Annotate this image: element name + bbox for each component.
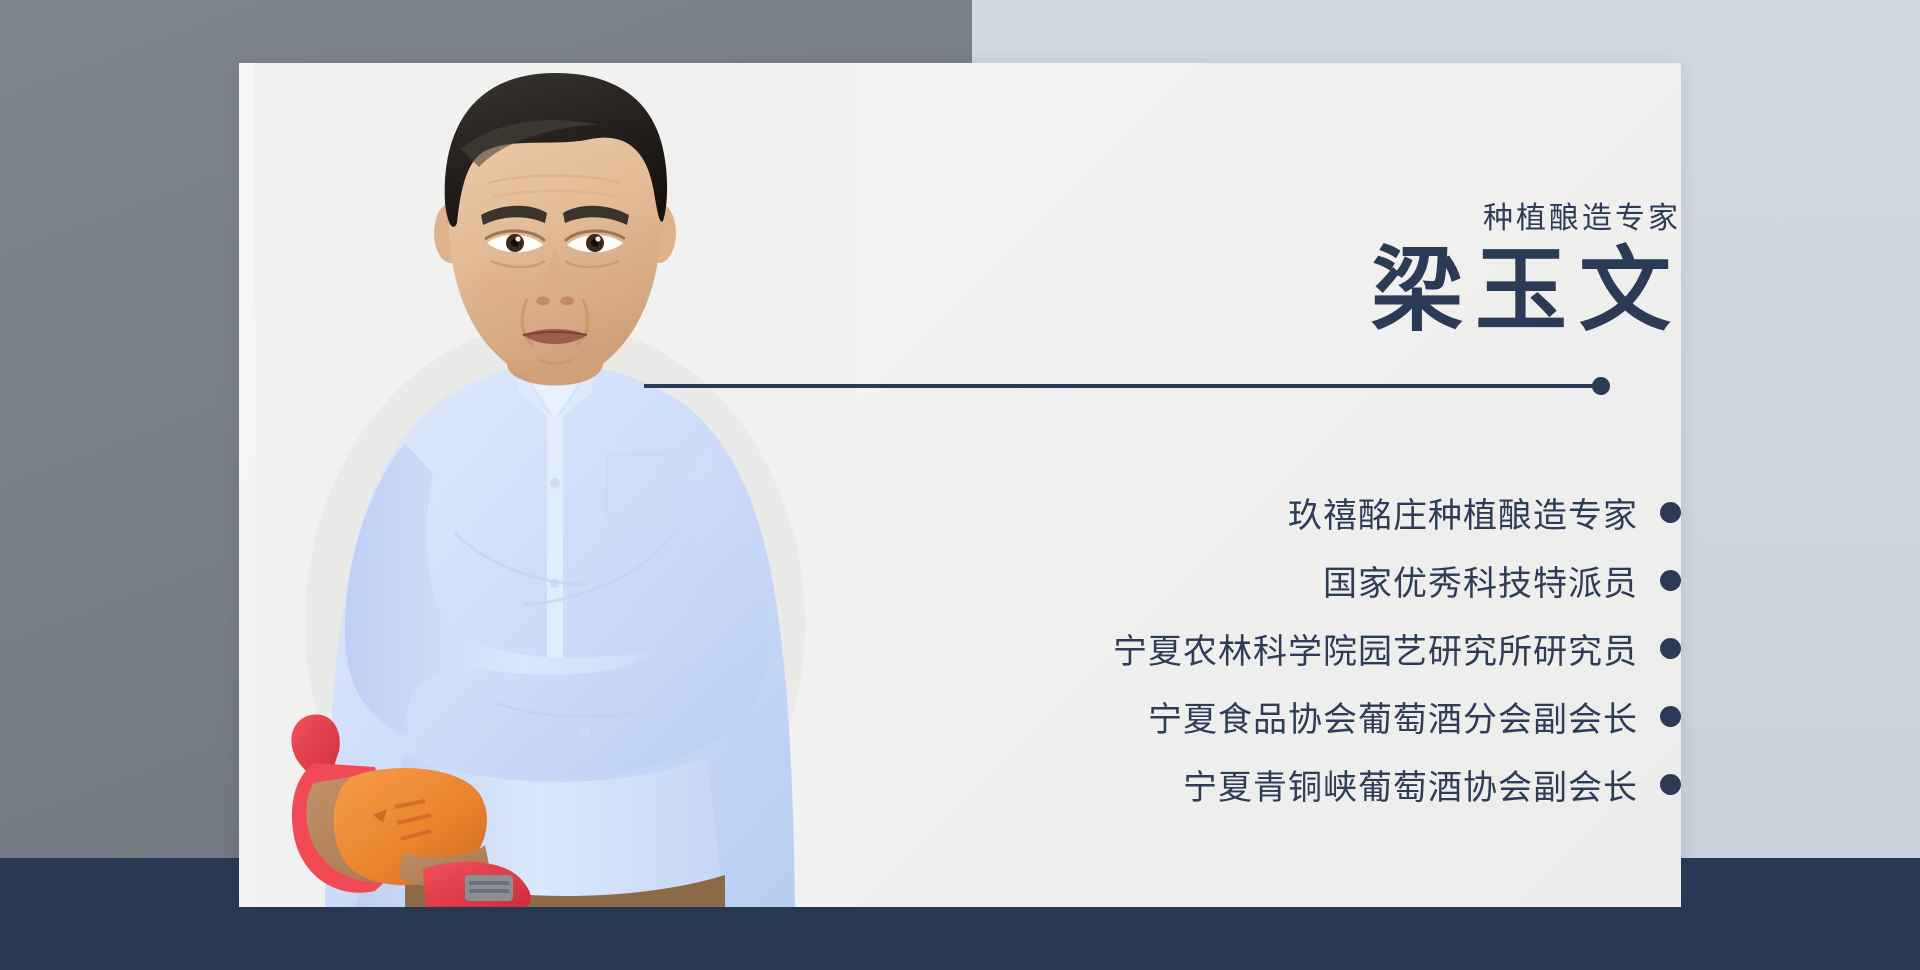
list-item: 玖禧酩庄种植酿造专家: [821, 478, 1681, 546]
credential-label: 宁夏青铜峡葡萄酒协会副会长: [1183, 760, 1638, 809]
credential-label: 玖禧酩庄种植酿造专家: [1288, 488, 1638, 537]
credentials-list: 玖禧酩庄种植酿造专家 国家优秀科技特派员 宁夏农林科学院园艺研究所研究员 宁夏食…: [821, 478, 1681, 818]
list-item: 宁夏青铜峡葡萄酒协会副会长: [821, 750, 1681, 818]
poster-stage: 种植酿造专家 梁玉文 玖禧酩庄种植酿造专家 国家优秀科技特派员 宁夏农林科学院园…: [0, 0, 1920, 970]
bullet-dot-icon: [1660, 502, 1681, 523]
list-item: 国家优秀科技特派员: [821, 546, 1681, 614]
credential-label: 宁夏农林科学院园艺研究所研究员: [1113, 624, 1638, 673]
credential-label: 宁夏食品协会葡萄酒分会副会长: [1148, 692, 1638, 741]
bullet-dot-icon: [1660, 638, 1681, 659]
credential-label: 国家优秀科技特派员: [1323, 556, 1638, 605]
list-item: 宁夏食品协会葡萄酒分会副会长: [821, 682, 1681, 750]
bullet-dot-icon: [1660, 774, 1681, 795]
portrait-photo: [255, 63, 855, 907]
bullet-dot-icon: [1660, 706, 1681, 727]
bullet-dot-icon: [1660, 570, 1681, 591]
list-item: 宁夏农林科学院园艺研究所研究员: [821, 614, 1681, 682]
role-eyebrow: 种植酿造专家: [1483, 193, 1681, 237]
person-name: 梁玉文: [1371, 243, 1683, 340]
divider-end-dot-icon: [1592, 377, 1610, 395]
divider-line: [644, 384, 1601, 388]
